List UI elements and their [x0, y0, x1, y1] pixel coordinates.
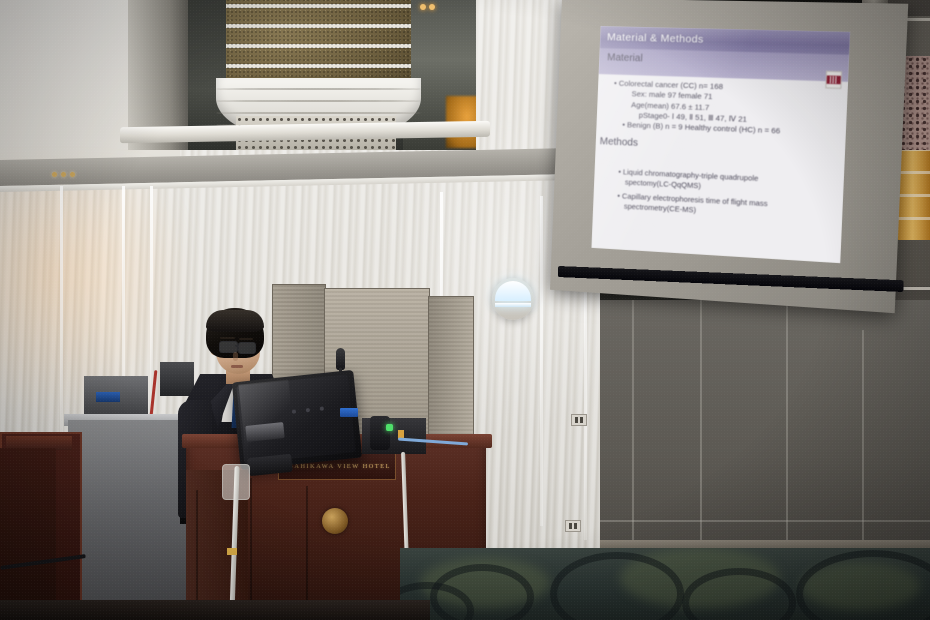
slide-section-material: Material — [607, 52, 643, 64]
conference-presentation-photo: Material & Methods Material • Colorectal… — [0, 0, 930, 620]
status-led-icon — [386, 424, 393, 431]
screen-projection-area: Material & Methods Material • Colorectal… — [591, 26, 850, 263]
podium-emblem — [322, 508, 348, 534]
eyeglasses-bridge — [235, 345, 239, 347]
ceiling-downlights — [52, 172, 78, 177]
amber-cylinder-lamp — [898, 150, 930, 240]
material-bullet-list: • Colorectal cancer (CC) n= 168 Sex: mal… — [612, 79, 835, 139]
av-blue-device — [96, 392, 120, 402]
eyebrow-left — [220, 337, 235, 339]
blue-label-tag — [340, 408, 358, 417]
sconce-light-slit — [495, 303, 531, 307]
hair-fringe — [206, 310, 264, 332]
patterned-carpet — [400, 548, 930, 620]
panel-divider — [786, 300, 788, 550]
mouth — [231, 365, 243, 368]
wall-outlet — [571, 414, 587, 426]
presentation-slide: Material & Methods Material • Colorectal… — [591, 26, 850, 263]
wall-seam — [540, 196, 543, 526]
nose — [233, 352, 238, 361]
eyeglasses-lens-right — [238, 342, 256, 354]
wooden-furniture-panel — [0, 448, 56, 620]
projection-screen: Material & Methods Material • Colorectal… — [556, 0, 886, 298]
slide-section-methods: Methods — [600, 136, 639, 149]
monitor-glare — [238, 380, 295, 455]
panel-divider — [862, 330, 864, 550]
podium-groove — [250, 478, 252, 620]
panel-divider — [632, 300, 634, 550]
eyebrow-right — [239, 338, 253, 340]
microphone-icon — [336, 348, 345, 370]
methods-bullet-list: • Liquid chromatography-triple quadrupol… — [617, 167, 836, 223]
cable-tape-marker — [227, 548, 237, 555]
wall-outlet — [565, 520, 581, 532]
foreground-floor — [0, 600, 430, 620]
av-rack-module — [370, 416, 390, 450]
alcove-bulb-cluster — [420, 4, 442, 12]
slide-title: Material & Methods — [607, 31, 704, 46]
panel-rail — [600, 520, 930, 522]
slide-body: Material • Colorectal cancer (CC) n= 168… — [591, 74, 848, 263]
panel-divider — [700, 300, 702, 550]
